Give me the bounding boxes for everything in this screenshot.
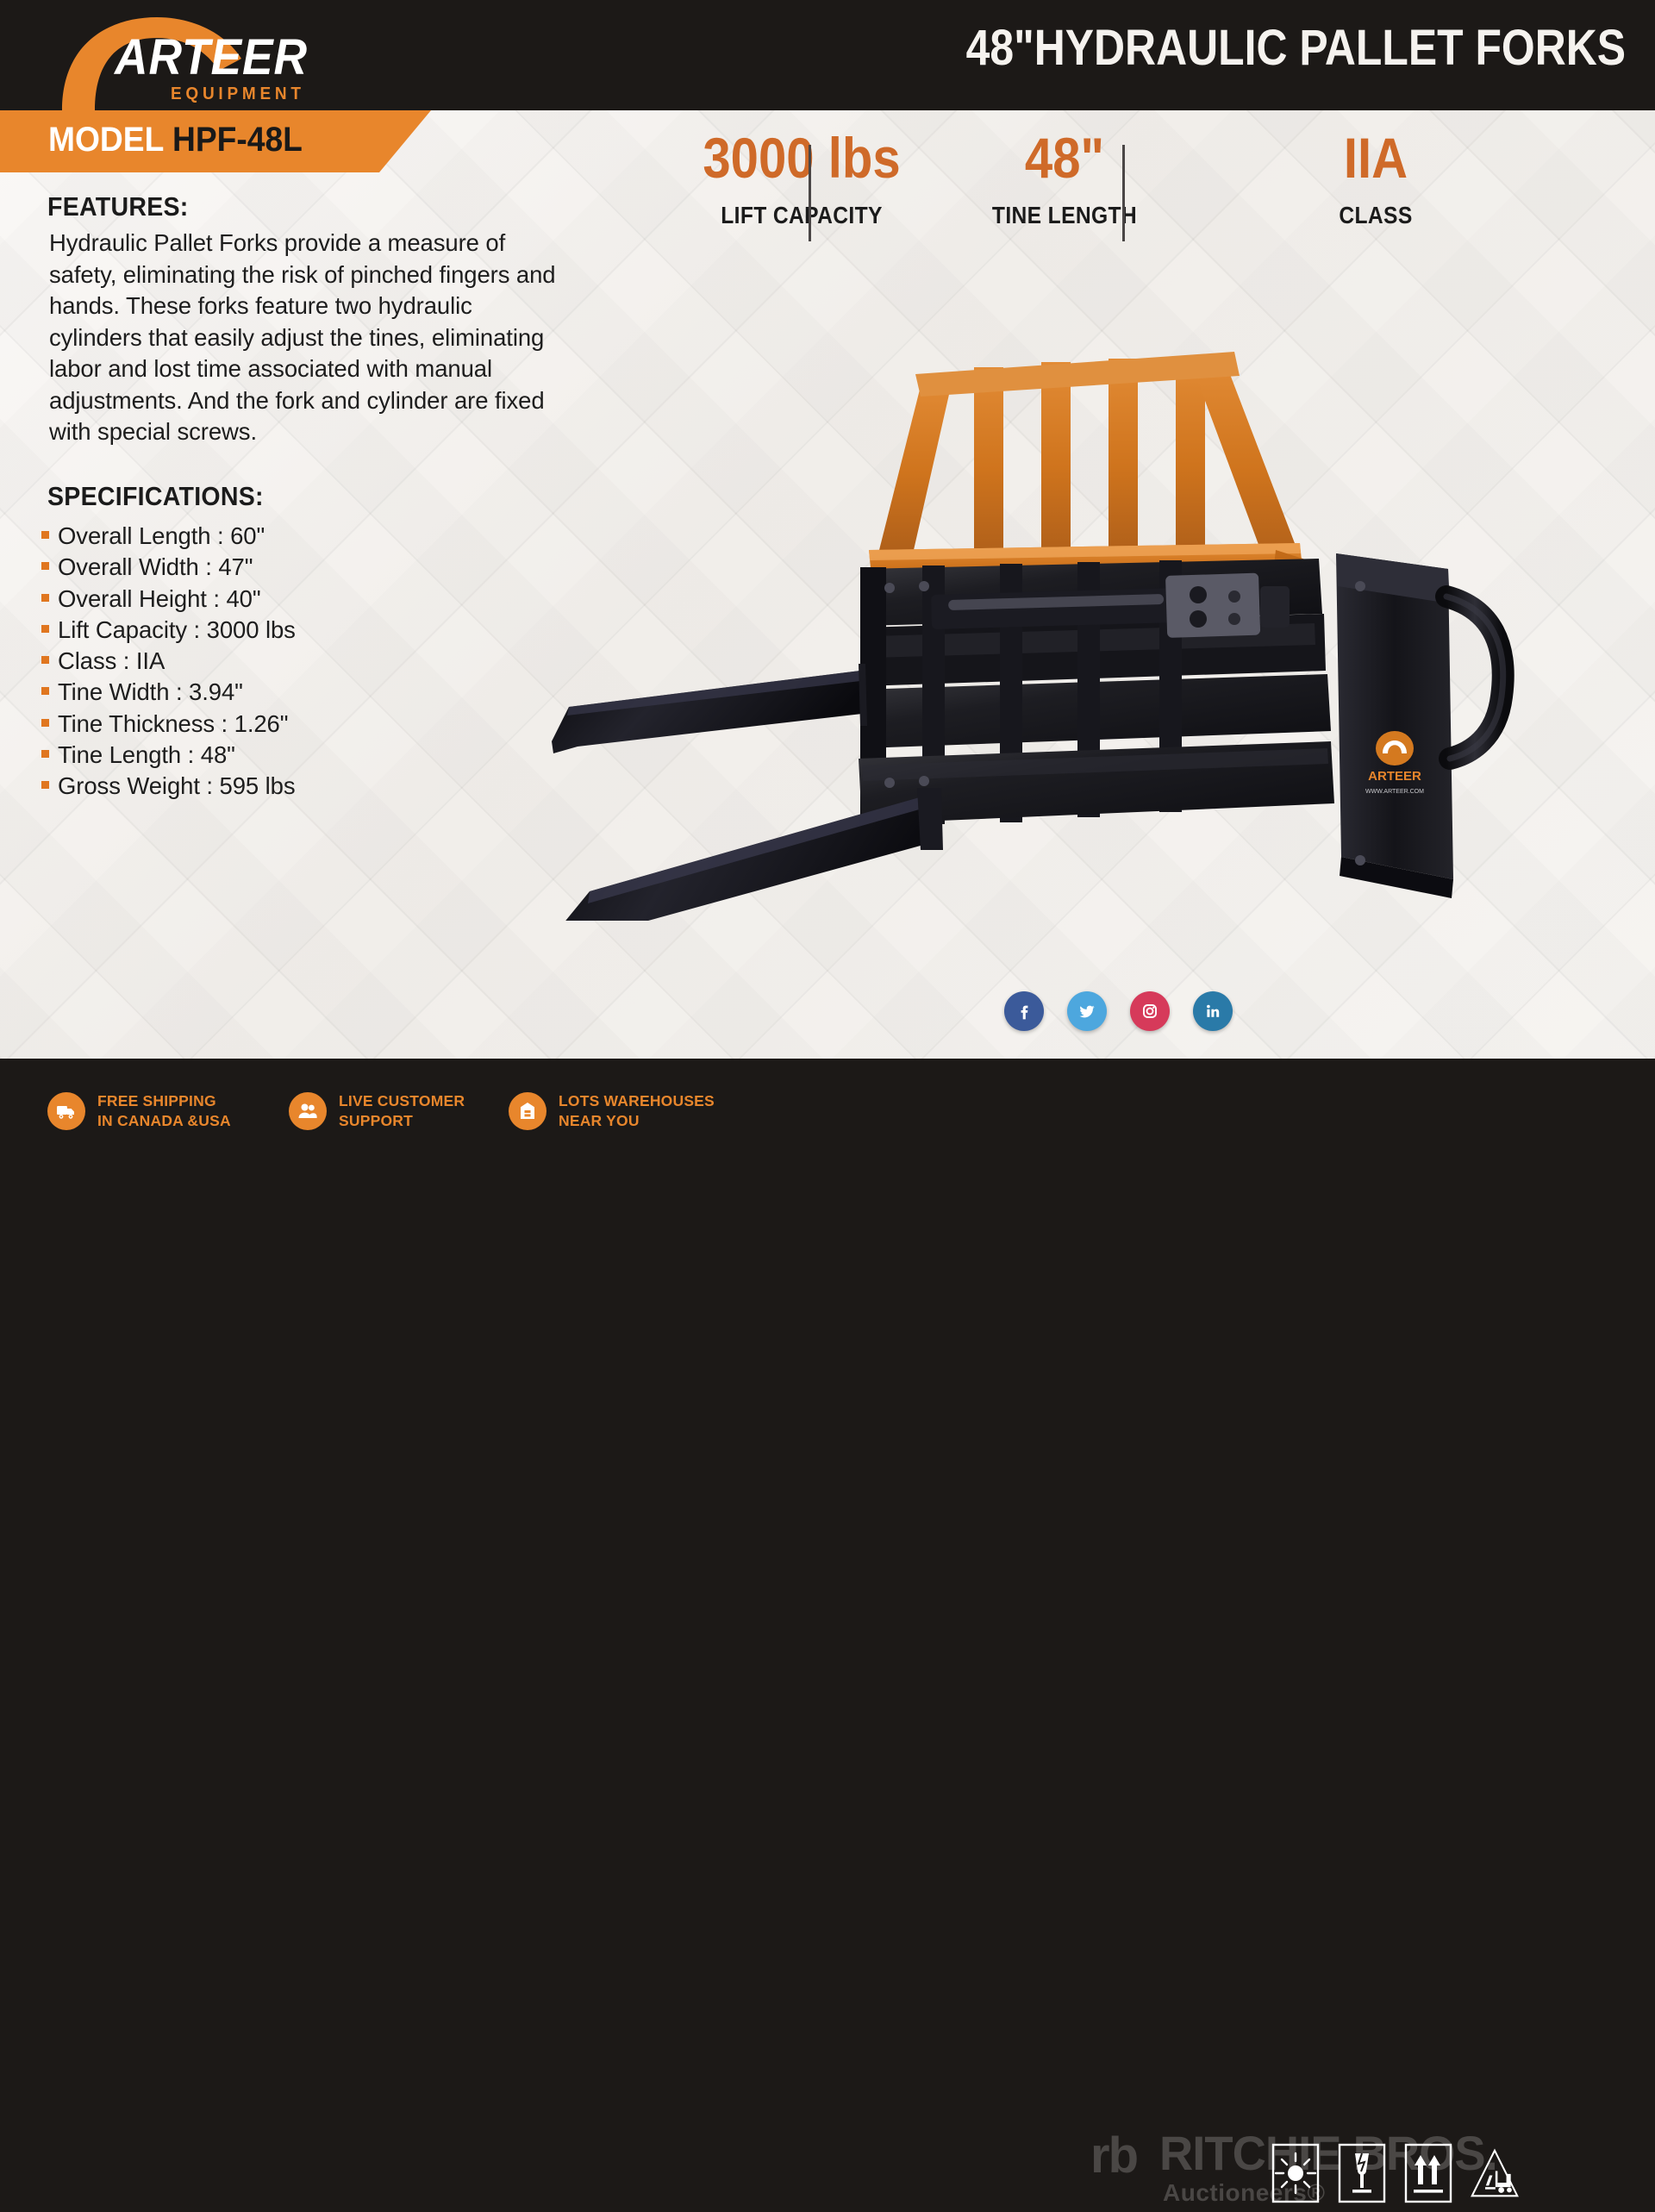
spec-text: Tine Thickness : 1.26" [58, 709, 288, 740]
service-line-1: FREE SHIPPING [97, 1091, 231, 1111]
service-free-shipping: FREE SHIPPING IN CANADA &USA [47, 1091, 231, 1131]
service-line-2: IN CANADA &USA [97, 1111, 231, 1131]
features-heading: FEATURES: [47, 191, 189, 222]
list-item: Tine Length : 48" [41, 740, 559, 771]
service-line-1: LIVE CUSTOMER [339, 1091, 465, 1111]
list-item: Gross Weight : 595 lbs [41, 771, 559, 802]
product-spec-sheet: ARTEER EQUIPMENT 48"HYDRAULIC PALLET FOR… [0, 0, 1655, 1170]
warehouse-icon [509, 1092, 546, 1130]
model-value: HPF-48L [172, 121, 303, 159]
svg-text:ARTEER: ARTEER [1368, 769, 1421, 784]
spec-text: Class : IIA [58, 646, 165, 677]
content-area: FEATURES: Hydraulic Pallet Forks provide… [0, 110, 1655, 1059]
list-item: Lift Capacity : 3000 lbs [41, 615, 559, 646]
stat-divider [809, 145, 811, 241]
spec-text: Gross Weight : 595 lbs [58, 771, 295, 802]
load-backrest [869, 352, 1319, 595]
spec-text: Tine Length : 48" [58, 740, 235, 771]
spec-text: Overall Width : 47" [58, 552, 253, 583]
rb-monogram: rb [1090, 2131, 1137, 2181]
list-item: Overall Width : 47" [41, 552, 559, 583]
bullet-square-icon [41, 656, 49, 664]
bullet-square-icon [41, 594, 49, 602]
bullet-square-icon [41, 562, 49, 570]
features-description: Hydraulic Pallet Forks provide a measure… [49, 228, 558, 448]
truck-icon [47, 1092, 85, 1130]
service-line-1: LOTS WAREHOUSES [559, 1091, 715, 1111]
service-line-2: SUPPORT [339, 1111, 465, 1131]
spec-text: Lift Capacity : 3000 lbs [58, 615, 296, 646]
list-item: Tine Thickness : 1.26" [41, 709, 559, 740]
brand-name: ARTEER [115, 33, 308, 83]
specifications-heading: SPECIFICATIONS: [47, 481, 264, 512]
model-label: MODEL [48, 121, 164, 159]
brand-tagline: EQUIPMENT [171, 84, 305, 104]
list-item: Class : IIA [41, 646, 559, 677]
tine-upper [552, 664, 867, 753]
service-warehouses: LOTS WAREHOUSES NEAR YOU [509, 1091, 715, 1131]
bullet-square-icon [41, 781, 49, 789]
product-image: ARTEER WWW.ARTEER.COM [517, 266, 1621, 921]
bullet-square-icon [41, 719, 49, 727]
list-item: Overall Length : 60" [41, 521, 559, 552]
svg-text:WWW.ARTEER.COM: WWW.ARTEER.COM [1365, 789, 1424, 795]
bullet-square-icon [41, 687, 49, 695]
service-live-support: LIVE CUSTOMER SUPPORT [289, 1091, 465, 1131]
bullet-square-icon [41, 750, 49, 758]
forklift-warning-icon [1471, 2143, 1519, 2203]
page-header: ARTEER EQUIPMENT 48"HYDRAULIC PALLET FOR… [0, 0, 1655, 110]
spec-text: Overall Height : 40" [58, 584, 261, 615]
bullet-square-icon [41, 625, 49, 633]
page-footer: FREE SHIPPING IN CANADA &USA LIVE CUSTOM… [0, 1059, 1655, 1170]
shipping-symbols [1271, 2143, 1519, 2203]
keep-dry-sun-icon [1271, 2143, 1320, 2203]
specifications-list: Overall Length : 60" Overall Width : 47"… [41, 521, 559, 803]
page-title: 48"HYDRAULIC PALLET FORKS [966, 19, 1626, 77]
brand-logo[interactable]: ARTEER EQUIPMENT [33, 5, 378, 107]
twitter-icon[interactable] [1067, 991, 1107, 1031]
bullet-square-icon [41, 531, 49, 539]
key-stats-row: 3000 lbs LIFT CAPACITY 48" TINE LENGTH I… [560, 129, 1629, 267]
list-item: Tine Width : 3.94" [41, 677, 559, 708]
fragile-glass-icon [1338, 2143, 1386, 2203]
instagram-icon[interactable] [1130, 991, 1170, 1031]
hydraulic-hose [1446, 597, 1503, 759]
people-icon [289, 1092, 327, 1130]
pallet-forks-illustration: ARTEER WWW.ARTEER.COM [517, 266, 1621, 921]
stat-label: CLASS [1171, 202, 1580, 229]
tine-lower [559, 788, 943, 921]
spec-text: Tine Width : 3.94" [58, 677, 243, 708]
stat-class: IIA CLASS [1143, 129, 1608, 229]
service-line-2: NEAR YOU [559, 1111, 715, 1131]
mounting-plate: ARTEER WWW.ARTEER.COM [1336, 553, 1453, 898]
spec-text: Overall Length : 60" [58, 521, 265, 552]
this-way-up-icon [1404, 2143, 1452, 2203]
facebook-icon[interactable] [1004, 991, 1044, 1031]
linkedin-icon[interactable] [1193, 991, 1233, 1031]
stat-value: IIA [1171, 129, 1580, 186]
social-links [1004, 991, 1233, 1031]
model-banner: MODEL HPF-48L [0, 110, 431, 172]
left-column: FEATURES: Hydraulic Pallet Forks provide… [0, 110, 569, 1059]
stat-divider [1122, 145, 1125, 241]
list-item: Overall Height : 40" [41, 584, 559, 615]
